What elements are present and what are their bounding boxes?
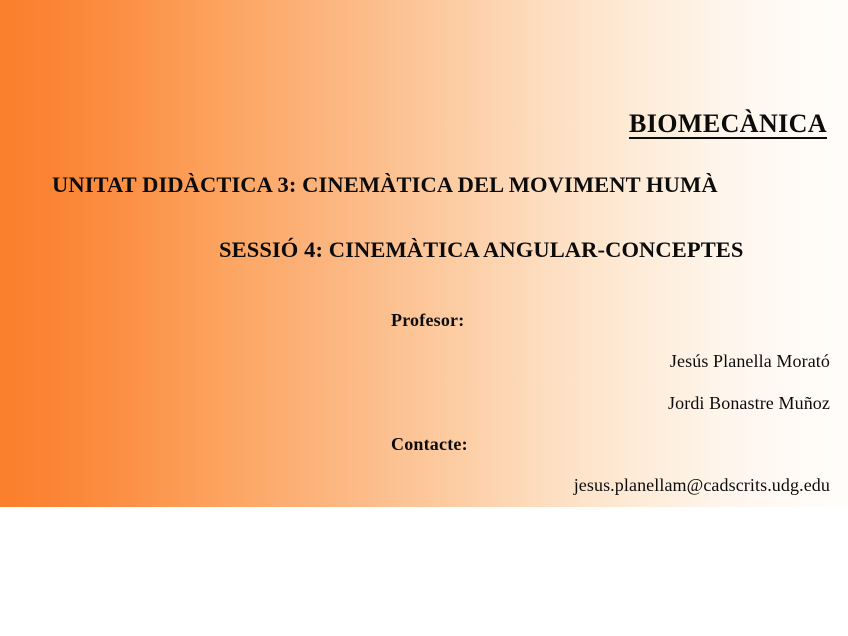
presentation-slide: BIOMECÀNICA UNITAT DIDÀCTICA 3: CINEMÀTI…	[0, 0, 848, 636]
professor-label: Profesor:	[391, 311, 464, 329]
professor-name-1: Jesús Planella Morató	[670, 352, 830, 370]
page-title: BIOMECÀNICA	[629, 111, 827, 137]
contact-label: Contacte:	[391, 435, 468, 453]
contact-email: jesus.planellam@cadscrits.udg.edu	[574, 476, 830, 494]
session-title: SESSIÓ 4: CINEMÀTICA ANGULAR-CONCEPTES	[219, 239, 744, 262]
professor-name-2: Jordi Bonastre Muñoz	[668, 394, 830, 412]
unit-title: UNITAT DIDÀCTICA 3: CINEMÀTICA DEL MOVIM…	[52, 174, 718, 197]
slide-text-layer: BIOMECÀNICA UNITAT DIDÀCTICA 3: CINEMÀTI…	[0, 0, 848, 507]
